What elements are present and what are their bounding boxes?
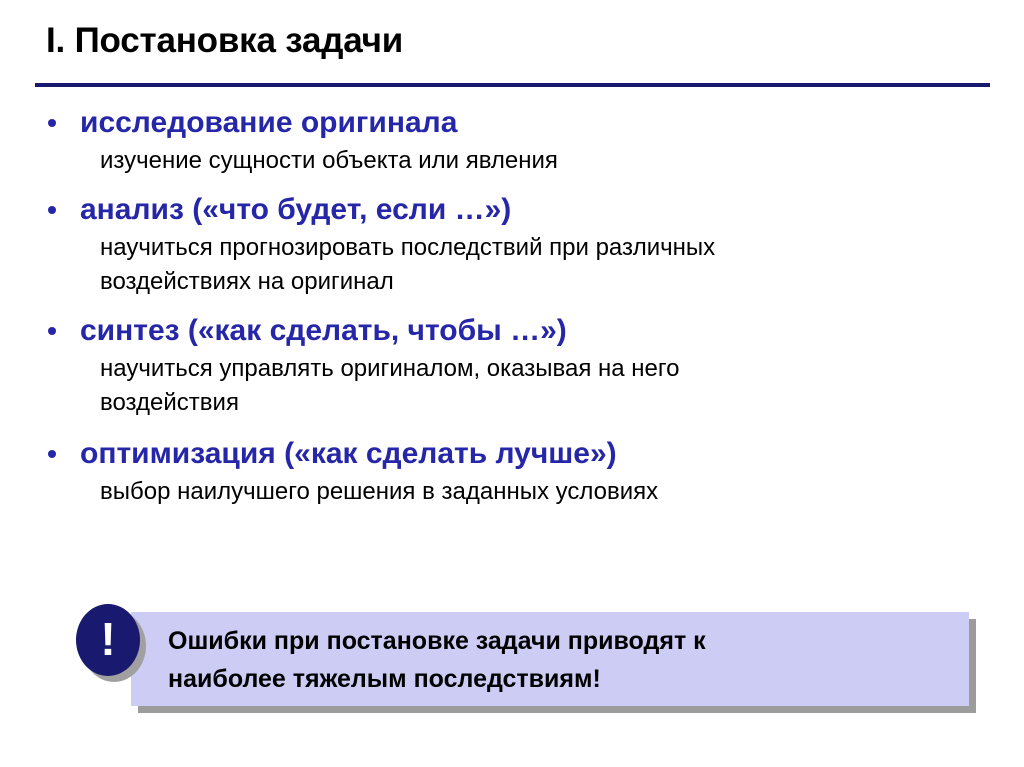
bullet-heading-label: исследование оригинала <box>80 106 457 139</box>
bullet-heading-label: оптимизация («как сделать лучше») <box>80 437 617 470</box>
bullet-dot-icon <box>48 119 56 127</box>
warning-callout: Ошибки при постановке задачи приводят к … <box>131 612 969 706</box>
callout-body: Ошибки при постановке задачи приводят к … <box>131 612 969 706</box>
page-title: I. Постановка задачи <box>46 18 403 64</box>
bullet-subtext-line: научиться прогнозировать последствий при… <box>0 231 1024 265</box>
bullet-heading-label: синтез («как сделать, чтобы …») <box>80 314 567 347</box>
bullet-dot-icon <box>48 327 56 335</box>
bullet-heading: оптимизация («как сделать лучше») <box>0 432 1024 475</box>
bullet-subtext-line: изучение сущности объекта или явления <box>0 144 1024 178</box>
bullet-heading: исследование оригинала <box>0 101 1024 144</box>
bullet-heading: анализ («что будет, если …») <box>0 188 1024 231</box>
title-divider <box>35 83 990 87</box>
list-item: оптимизация («как сделать лучше») выбор … <box>0 432 1024 509</box>
bullet-list: исследование оригинала изучение сущности… <box>0 101 1024 511</box>
exclamation-icon-glyph: ! <box>76 604 140 676</box>
bullet-subtext-line: воздействия <box>0 386 1024 420</box>
bullet-dot-icon <box>48 450 56 458</box>
bullet-heading: синтез («как сделать, чтобы …») <box>0 309 1024 352</box>
callout-line: наиболее тяжелым последствиям! <box>168 660 938 698</box>
list-item: исследование оригинала изучение сущности… <box>0 101 1024 178</box>
bullet-subtext-line: выбор наилучшего решения в заданных усло… <box>0 475 1024 509</box>
callout-text: Ошибки при постановке задачи приводят к … <box>168 622 938 698</box>
bullet-subtext-line: научиться управлять оригиналом, оказывая… <box>0 352 1024 386</box>
list-item: синтез («как сделать, чтобы …») научитьс… <box>0 309 1024 420</box>
callout-line: Ошибки при постановке задачи приводят к <box>168 622 938 660</box>
slide-canvas: I. Постановка задачи исследование оригин… <box>0 0 1024 767</box>
list-item: анализ («что будет, если …») научиться п… <box>0 188 1024 299</box>
bullet-dot-icon <box>48 206 56 214</box>
bullet-subtext-line: воздействиях на оригинал <box>0 265 1024 299</box>
bullet-heading-label: анализ («что будет, если …») <box>80 193 511 226</box>
exclamation-icon: ! <box>76 604 146 682</box>
slide-header: I. Постановка задачи <box>0 18 1024 90</box>
